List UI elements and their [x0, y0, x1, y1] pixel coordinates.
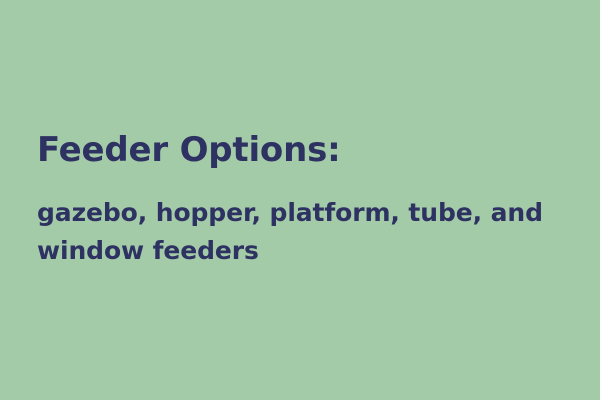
page-title: Feeder Options: [37, 128, 571, 172]
body-text: gazebo, hopper, platform, tube, and wind… [37, 172, 571, 270]
text-block: Feeder Options: gazebo, hopper, platform… [37, 128, 571, 270]
slide-canvas: Feeder Options: gazebo, hopper, platform… [0, 0, 600, 400]
